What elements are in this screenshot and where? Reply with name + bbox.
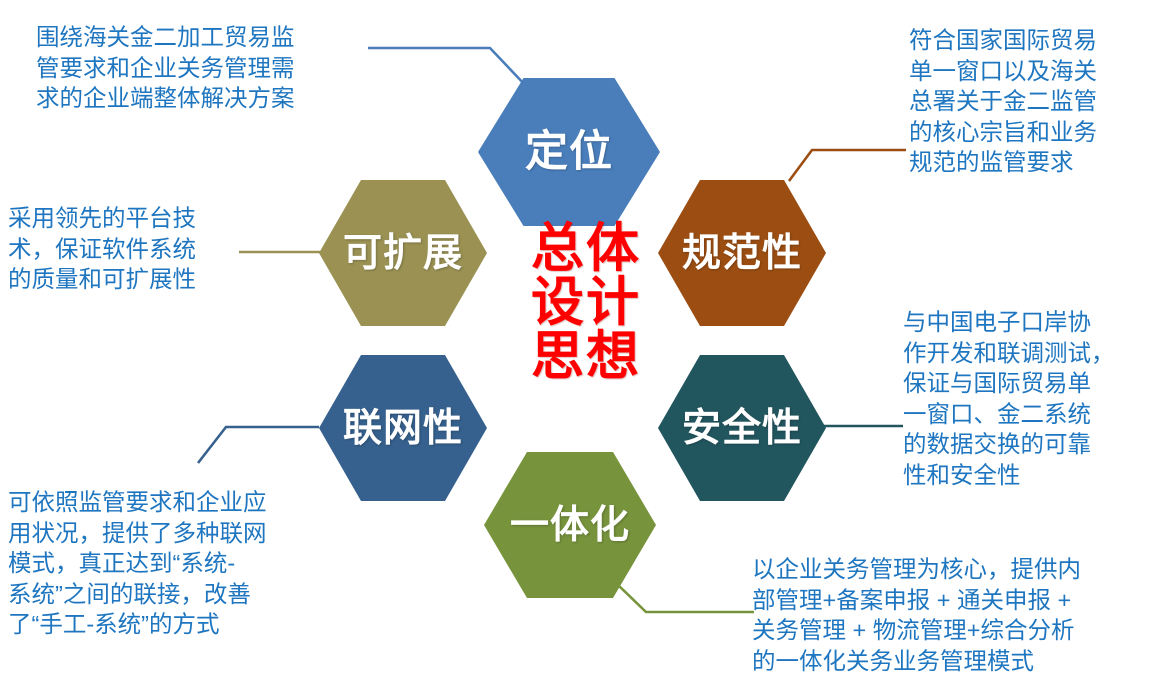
connector-normativity: [789, 150, 906, 181]
diagram-canvas: 定位 可扩展 规范性 联网性 安全性 一体化 总体 设计 思想 围绕海关金二加工…: [0, 0, 1161, 679]
hex-label-positioning: 定位: [525, 131, 613, 174]
hex-label-networking: 联网性: [343, 409, 463, 448]
center-title-line-2: 设计: [498, 276, 674, 330]
center-title-line-1: 总体: [498, 222, 674, 276]
hex-label-normativity: 规范性: [682, 234, 802, 273]
note-security: 与中国电子口岸协 作开发和联调测试， 保证与国际贸易单 一窗口、金二系统 的数据…: [903, 307, 1155, 490]
note-integration: 以企业关务管理为核心，提供内 部管理+备案申报 + 通关申报 + 关务管理 + …: [752, 554, 1158, 676]
center-title-line-3: 思想: [498, 330, 674, 384]
hex-label-security: 安全性: [682, 409, 802, 448]
note-networking: 可依照监管要求和企业应 用状况，提供了多种联网 模式，真正达到“系统- 系统”之…: [8, 487, 330, 640]
note-positioning: 围绕海关金二加工贸易监 管要求和企业关务管理需 求的企业端整体解决方案: [36, 22, 356, 114]
connector-networking: [198, 427, 319, 463]
note-extensibility: 采用领先的平台技 术，保证软件系统 的质量和可扩展性: [8, 203, 240, 295]
note-normativity: 符合国家国际贸易 单一窗口以及海关 总署关于金二监管 的核心宗旨和业务 规范的监…: [909, 25, 1159, 178]
hex-label-extensibility: 可扩展: [343, 234, 463, 273]
center-title: 总体 设计 思想: [498, 222, 674, 384]
connector-positioning: [368, 48, 527, 87]
connector-integration: [617, 584, 754, 612]
hex-label-integration: 一体化: [510, 506, 630, 545]
